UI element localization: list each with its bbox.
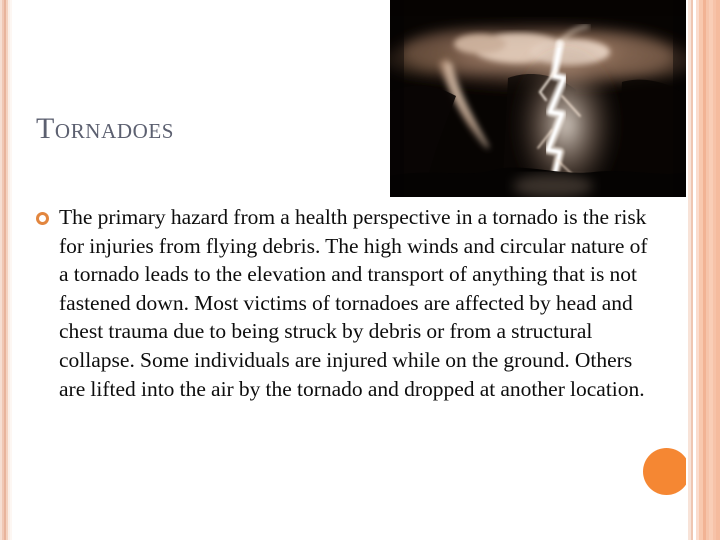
bullet-list-item: The primary hazard from a health perspec… <box>36 203 661 403</box>
left-border-decoration <box>0 0 12 540</box>
right-border-decoration <box>686 0 720 540</box>
left-border-stripe-5 <box>10 0 12 540</box>
body-paragraph: The primary hazard from a health perspec… <box>59 203 661 403</box>
page-title: Tornadoes <box>36 112 174 145</box>
slide-canvas: Tornadoes The primary hazard from a heal… <box>0 0 720 540</box>
orange-accent-circle <box>643 448 690 495</box>
bullet-ring-icon <box>36 212 49 225</box>
right-border-stripe-10 <box>716 0 720 540</box>
tornado-lightning-photo <box>390 0 687 197</box>
